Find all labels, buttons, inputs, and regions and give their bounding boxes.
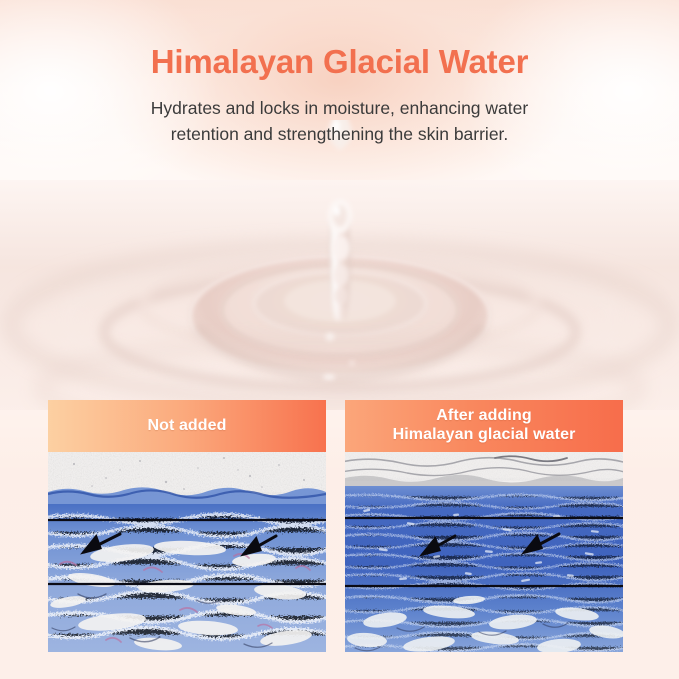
comparison-panel-not-added: Not added bbox=[48, 400, 326, 652]
subtitle-line-2: retention and strengthening the skin bar… bbox=[80, 122, 600, 147]
panel-header-after-adding: After adding Himalayan glacial water bbox=[345, 400, 623, 452]
panel-header-not-added: Not added bbox=[48, 400, 326, 452]
panel-header-label-line-2: Himalayan glacial water bbox=[393, 426, 576, 445]
page-title: Himalayan Glacial Water bbox=[0, 44, 679, 80]
comparison-panels: Not added bbox=[48, 400, 623, 652]
panel-header-label: Not added bbox=[147, 417, 226, 436]
comparison-panel-after-adding: After adding Himalayan glacial water bbox=[345, 400, 623, 652]
poster-root: Himalayan Glacial Water Hydrates and loc… bbox=[0, 0, 679, 679]
skin-histology-untreated-image bbox=[48, 452, 326, 652]
text-block: Himalayan Glacial Water Hydrates and loc… bbox=[0, 44, 679, 147]
water-droplet-ripple-image bbox=[0, 120, 679, 410]
subtitle-line-1: Hydrates and locks in moisture, enhancin… bbox=[80, 96, 600, 121]
panel-header-label-line-1: After adding bbox=[393, 407, 576, 426]
page-subtitle: Hydrates and locks in moisture, enhancin… bbox=[80, 96, 600, 147]
skin-histology-treated-image bbox=[345, 452, 623, 652]
